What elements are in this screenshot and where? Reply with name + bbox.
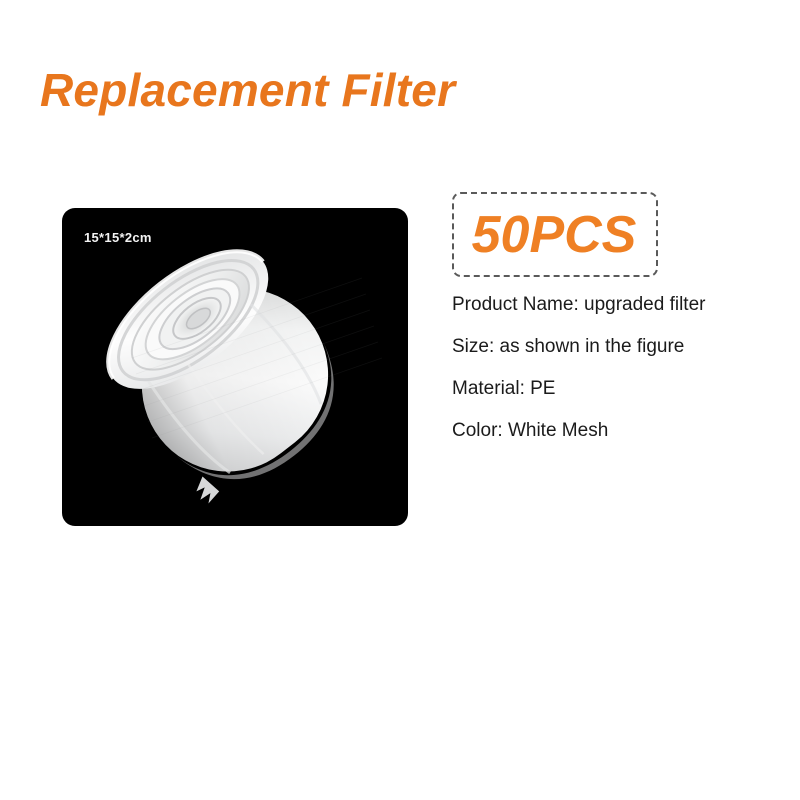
quantity-badge-label: 50PCS xyxy=(472,209,639,261)
quantity-badge: 50PCS xyxy=(452,192,658,277)
spec-size: Size: as shown in the figure xyxy=(452,335,772,359)
product-listing-image: Replacement Filter 15*15*2cm xyxy=(0,0,800,800)
spec-list: Product Name: upgraded filter Size: as s… xyxy=(452,293,772,443)
rolled-mesh-filter-illustration xyxy=(62,208,408,526)
page-title: Replacement Filter xyxy=(40,64,455,116)
filter-product-image xyxy=(62,208,408,526)
spec-material: Material: PE xyxy=(452,377,772,401)
product-photo-panel: 15*15*2cm xyxy=(62,208,408,526)
product-info-column: 50PCS Product Name: upgraded filter Size… xyxy=(452,192,772,443)
spec-product-name: Product Name: upgraded filter xyxy=(452,293,772,317)
dimension-label: 15*15*2cm xyxy=(84,230,152,245)
spec-color: Color: White Mesh xyxy=(452,419,772,443)
